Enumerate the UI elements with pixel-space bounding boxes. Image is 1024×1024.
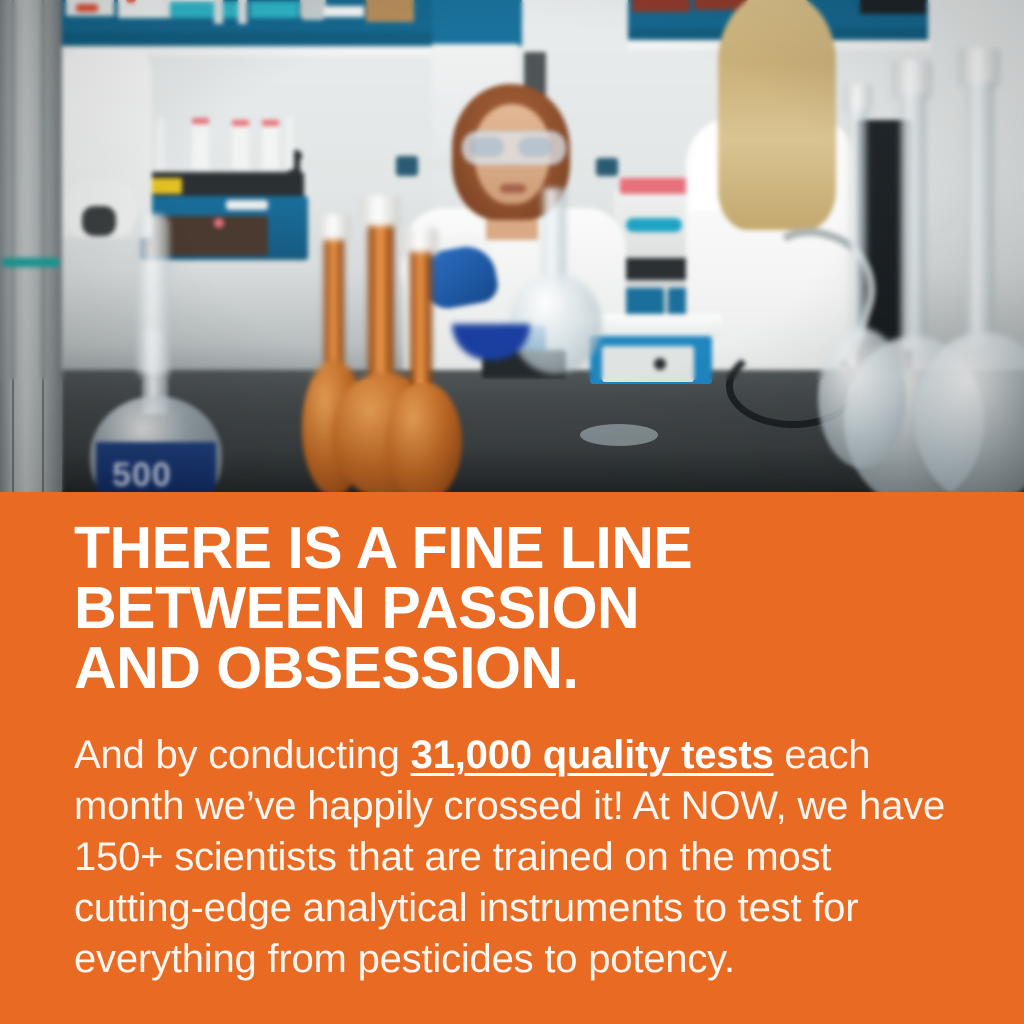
- amber-flask-tall-3: [402, 228, 444, 492]
- page-title: THERE IS A FINE LINE BETWEEN PASSION AND…: [74, 518, 954, 698]
- pipette-stand-left-2: [136, 214, 170, 374]
- quality-tests-highlight: 31,000 quality tests: [411, 733, 774, 777]
- clear-flask-2: [954, 48, 1006, 492]
- pillar-teal-band: [2, 258, 60, 267]
- vial-5: [286, 116, 294, 170]
- flask-volume-label: 500: [112, 456, 172, 492]
- petri-dish: [580, 424, 658, 446]
- shelf-carton: [366, 0, 414, 22]
- body-copy-part1: And by conducting: [74, 733, 411, 777]
- shelf-right-item-4: [860, 0, 926, 14]
- vial-cap-4: [262, 120, 279, 126]
- vial-4: [262, 120, 279, 170]
- balance-front: [602, 346, 694, 382]
- vial-3: [232, 120, 249, 170]
- shelf-divider-1: [214, 0, 223, 24]
- vial-cap-2: [192, 118, 209, 124]
- poster-root: 500 THERE IS A FINE LINE BETWEEN PASSION…: [0, 0, 1024, 1024]
- scientist-center-mouth: [500, 184, 526, 193]
- vial-cap-3: [232, 120, 249, 126]
- wall-outlet-left: [396, 156, 418, 176]
- scientist-left-hand: [82, 206, 116, 236]
- shelf-blue-tray: [170, 2, 244, 18]
- clear-flask-center: [524, 188, 582, 378]
- orange-text-panel: THERE IS A FINE LINE BETWEEN PASSION AND…: [0, 492, 1024, 1024]
- balance-knob: [654, 358, 666, 370]
- shelf-box-2: [76, 4, 98, 12]
- pillar-seam-left: [12, 0, 14, 492]
- wall-outlet-right: [596, 158, 618, 176]
- upper-cabinet-middle: [432, 0, 522, 46]
- vial-1: [156, 118, 165, 170]
- shelf-blue-tray-2: [250, 2, 298, 18]
- scientist-right-hair: [718, 0, 836, 230]
- shelf-right-item-1: [632, 0, 690, 12]
- shelf-white-block: [324, 6, 364, 17]
- analyzer-logo: [626, 218, 682, 232]
- instrument-knob: [214, 218, 224, 228]
- vial-2: [192, 118, 209, 170]
- pillar-seam-right: [42, 0, 44, 492]
- shelf-divider-2: [238, 0, 247, 24]
- instrument-display: [226, 200, 268, 210]
- body-copy: And by conducting 31,000 quality tests e…: [74, 730, 954, 985]
- safety-goggles-icon: [462, 131, 566, 165]
- structural-pillar: [0, 0, 62, 492]
- shelf-box-3: [118, 0, 162, 18]
- shelf-bottle: [300, 0, 326, 20]
- clear-flask-3: [842, 84, 876, 492]
- lab-photo: 500: [0, 0, 1024, 492]
